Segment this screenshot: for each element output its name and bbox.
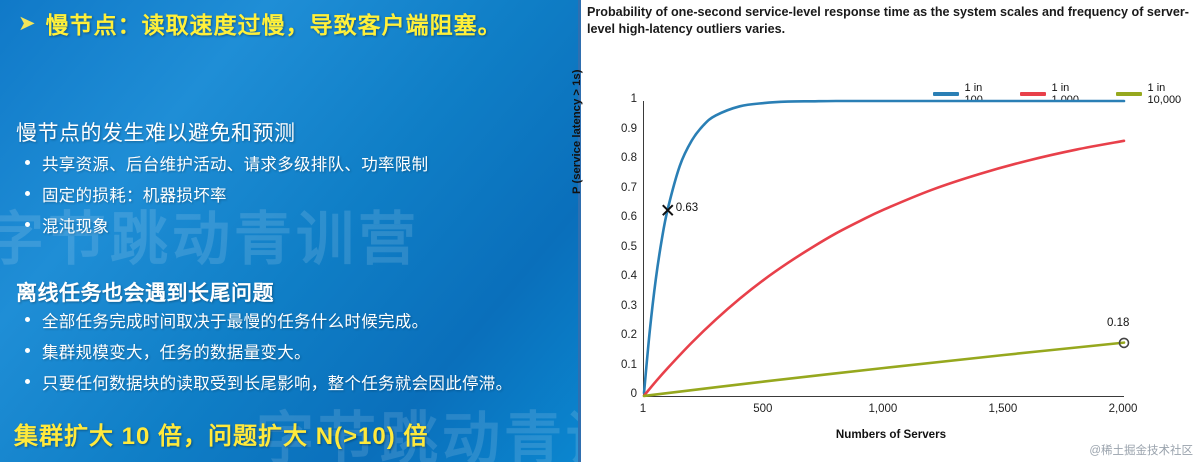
list-item: 全部任务完成时间取决于最慢的任务什么时候完成。	[16, 308, 512, 332]
list-item: 共享资源、后台维护活动、请求多级排队、功率限制	[16, 151, 428, 175]
chart-panel: Probability of one-second service-level …	[578, 0, 1198, 462]
plot-region	[643, 101, 1124, 397]
bullet-list-1: 共享资源、后台维护活动、请求多级排队、功率限制 固定的损耗：机器损坏率 混沌现象	[16, 151, 428, 244]
y-tick-label: 0.9	[597, 123, 637, 135]
series-line	[644, 343, 1124, 396]
x-tick-label: 500	[728, 403, 798, 415]
slide-left-panel: 字节跳动青训营 字节跳动青训营 ➤ 慢节点：读取速度过慢，导致客户端阻塞。 慢节…	[0, 0, 578, 462]
x-tick-label: 1	[608, 403, 678, 415]
list-item: 混沌现象	[16, 213, 428, 237]
y-tick-label: 0.5	[597, 241, 637, 253]
x-tick-label: 1,000	[848, 403, 918, 415]
legend-swatch	[1020, 92, 1046, 96]
y-tick-label: 0.2	[597, 329, 637, 341]
list-item: 集群规模变大，任务的数据量变大。	[16, 339, 512, 363]
y-tick-label: 0.1	[597, 359, 637, 371]
y-tick-label: 0.7	[597, 182, 637, 194]
chart-title: Probability of one-second service-level …	[581, 0, 1198, 43]
chart-area: 1 in 100 1 in 1,000 1 in 10,000 P (servi…	[581, 44, 1198, 462]
chart-lines	[644, 101, 1124, 396]
list-item: 只要任何数据块的读取受到长尾影响，整个任务就会因此停滞。	[16, 370, 512, 394]
legend-swatch	[933, 92, 959, 96]
legend-swatch	[1116, 92, 1142, 96]
slide-title-text: 慢节点：读取速度过慢，导致客户端阻塞。	[46, 6, 502, 40]
y-axis-label: P (service latency > 1s)	[571, 70, 583, 194]
y-tick-label: 0	[597, 388, 637, 400]
list-item: 固定的损耗：机器损坏率	[16, 182, 428, 206]
y-tick-label: 1	[597, 93, 637, 105]
y-tick-label: 0.6	[597, 211, 637, 223]
x-tick-label: 2,000	[1088, 403, 1158, 415]
y-tick-label: 0.3	[597, 300, 637, 312]
y-tick-label: 0.8	[597, 152, 637, 164]
annotation-0-63: 0.63	[676, 202, 698, 214]
slide-title: ➤ 慢节点：读取速度过慢，导致客户端阻塞。	[18, 6, 502, 40]
x-axis-label: Numbers of Servers	[581, 428, 1198, 441]
slide-footer-text: 集群扩大 10 倍，问题扩大 N(>10) 倍	[14, 416, 428, 451]
legend-item-series-3: 1 in 10,000	[1116, 82, 1198, 106]
section-heading-1: 慢节点的发生难以避免和预测	[16, 117, 296, 147]
series-line	[644, 141, 1124, 396]
arrow-icon: ➤	[18, 13, 36, 34]
bullet-list-2: 全部任务完成时间取决于最慢的任务什么时候完成。 集群规模变大，任务的数据量变大。…	[16, 308, 512, 401]
section-heading-2: 离线任务也会遇到长尾问题	[16, 277, 274, 307]
slide-root: 字节跳动青训营 字节跳动青训营 ➤ 慢节点：读取速度过慢，导致客户端阻塞。 慢节…	[0, 0, 1198, 462]
y-tick-label: 0.4	[597, 270, 637, 282]
x-tick-label: 1,500	[968, 403, 1038, 415]
annotation-0-18: 0.18	[1107, 317, 1129, 329]
legend-label: 1 in 10,000	[1148, 82, 1198, 106]
credit-watermark: @稀土掘金技术社区	[1089, 442, 1193, 458]
